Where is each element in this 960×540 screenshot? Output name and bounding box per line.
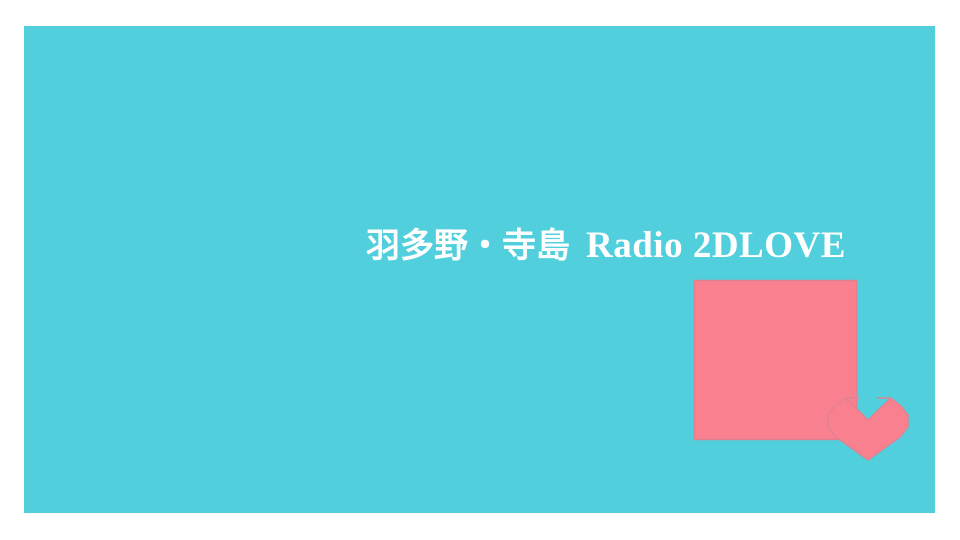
teal-background-panel (24, 26, 935, 513)
page-title-japanese: 羽多野・寺島 (366, 226, 570, 266)
page-title-latin: Radio 2DLOVE (586, 225, 846, 266)
page-title: 羽多野・寺島Radio 2DLOVE (366, 224, 866, 268)
slide-canvas: 羽多野・寺島Radio 2DLOVE (0, 0, 960, 540)
